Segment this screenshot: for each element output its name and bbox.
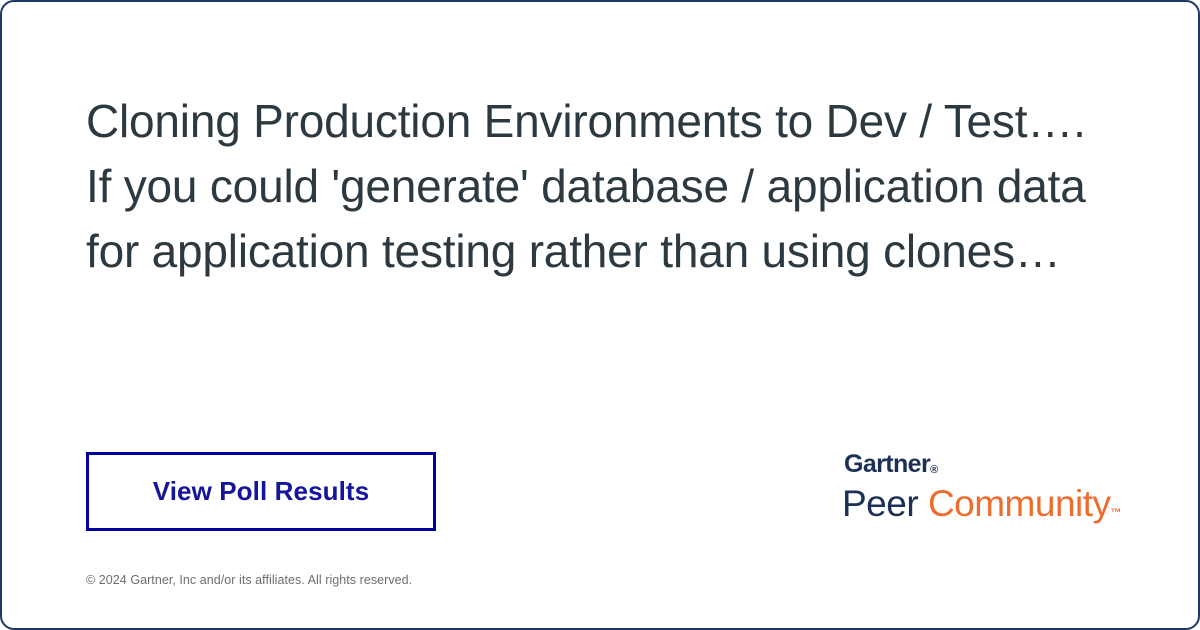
poll-promo-card: Cloning Production Environments to Dev /… bbox=[0, 0, 1200, 630]
copyright-notice: © 2024 Gartner, Inc and/or its affiliate… bbox=[86, 573, 412, 587]
gartner-peer-community-logo: Gartner® Peer Community™ bbox=[842, 450, 1112, 534]
brand-gartner-wordmark: Gartner® bbox=[842, 450, 1112, 483]
brand-community-text: Community bbox=[928, 483, 1111, 524]
view-poll-results-label: View Poll Results bbox=[153, 476, 370, 507]
brand-wordmark-space bbox=[918, 483, 928, 524]
view-poll-results-button[interactable]: View Poll Results bbox=[86, 452, 436, 531]
card-content: Cloning Production Environments to Dev /… bbox=[86, 2, 1128, 628]
poll-question-title: Cloning Production Environments to Dev /… bbox=[86, 89, 1086, 284]
brand-peer-text: Peer bbox=[842, 483, 918, 524]
registered-trademark-icon: ® bbox=[930, 464, 938, 476]
brand-peer-community-wordmark: Peer Community™ bbox=[842, 483, 1112, 534]
brand-gartner-text: Gartner bbox=[844, 450, 930, 478]
trademark-icon: ™ bbox=[1111, 507, 1122, 519]
